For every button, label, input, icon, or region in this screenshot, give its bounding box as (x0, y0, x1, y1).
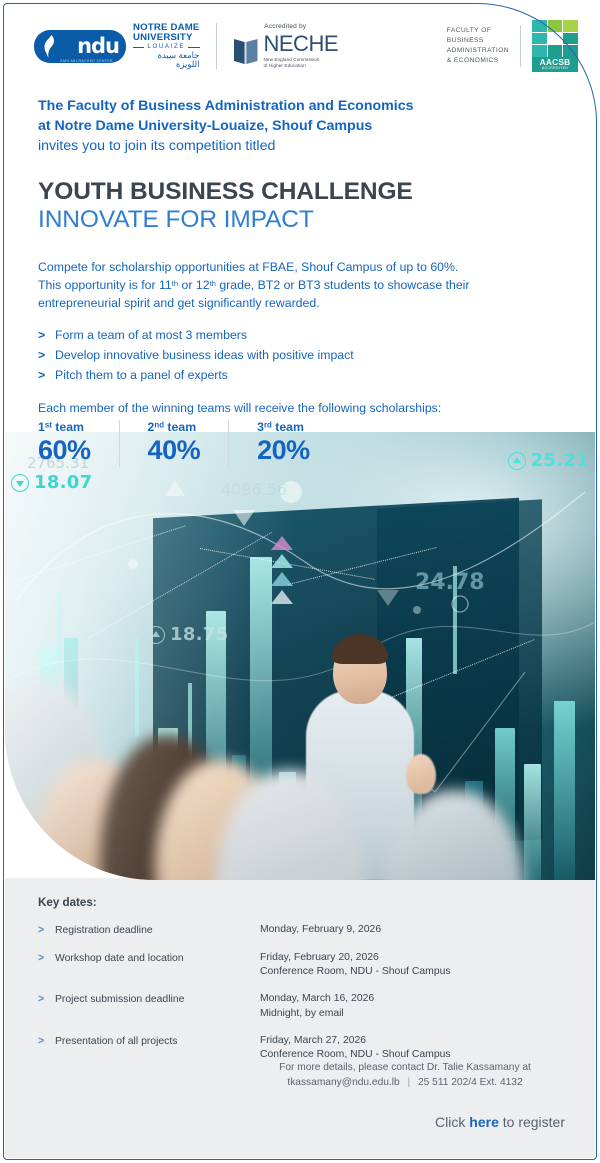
overlay-value-down: 18.07 (11, 472, 92, 493)
ndu-wordmark-line2: UNIVERSITY (133, 33, 200, 43)
faculty-name: FACULTY OF BUSINESS ADMINISTRATION & ECO… (447, 26, 509, 67)
ndu-logo: ndu ZAHI ABI RACHED CENTER NOTRE DAME UN… (34, 23, 200, 68)
scholarship-tier-2: 2nd team 40% (119, 420, 229, 466)
chevron-right-icon: > (38, 346, 55, 366)
key-date-value: Friday, March 27, 2026 Conference Room, … (260, 1034, 451, 1062)
poster: ndu ZAHI ABI RACHED CENTER NOTRE DAME UN… (0, 0, 600, 1163)
faculty-line4: & ECONOMICS (447, 56, 509, 66)
key-date-label: Workshop date and location (55, 951, 260, 966)
key-dates-title: Key dates: (38, 896, 571, 909)
contact-phone: 25 511 202/4 Ext. 4132 (418, 1077, 523, 1088)
list-item: > Develop innovative business ideas with… (38, 346, 570, 366)
key-date-row: > Workshop date and location Friday, Feb… (38, 951, 571, 979)
triangle-up-icon (147, 626, 165, 644)
tier-1-rank: 1 (38, 420, 45, 434)
ndu-logo-mark: ndu ZAHI ABI RACHED CENTER (34, 30, 126, 63)
list-item: > Form a team of at most 3 members (38, 326, 570, 346)
contact-email[interactable]: tkassamany@ndu.edu.lb (287, 1077, 399, 1088)
open-book-icon (233, 37, 259, 65)
chevron-right-icon: > (38, 992, 55, 1007)
lead-paragraph: The Faculty of Business Administration a… (38, 96, 570, 156)
competition-title-block: YOUTH BUSINESS CHALLENGE INNOVATE FOR IM… (38, 178, 570, 233)
chevron-right-icon: > (38, 1034, 55, 1049)
hero-image-composition: 2765.31 4096.56 24.78 18.07 25.21 18.75 (5, 432, 595, 880)
presenter-hair (332, 634, 388, 664)
register-prefix: Click (435, 1114, 469, 1130)
neche-name: NECHE (264, 33, 339, 55)
ndu-flame-icon (43, 35, 56, 58)
tier-1-word: team (52, 420, 84, 434)
key-date-value-line2: Conference Room, NDU - Shouf Campus (260, 965, 451, 979)
lead-line1: The Faculty of Business Administration a… (38, 96, 570, 116)
tier-3-word: team (272, 420, 304, 434)
tier-2-ordinal: nd (154, 421, 164, 430)
register-cta: Click here to register (435, 1114, 565, 1130)
faculty-line3: ADMINISTRATION (447, 46, 509, 56)
faculty-line2: BUSINESS (447, 36, 509, 46)
chevron-right-icon: > (38, 366, 55, 386)
description-paragraph: Compete for scholarship opportunities at… (38, 258, 570, 313)
register-link[interactable]: here (469, 1114, 499, 1130)
chevron-right-icon: > (38, 951, 55, 966)
ndu-wordmark-arabic2: اللويزة (133, 60, 200, 69)
header-logo-row: ndu ZAHI ABI RACHED CENTER NOTRE DAME UN… (0, 0, 600, 92)
key-date-value-line2: Midnight, by email (260, 1007, 374, 1021)
description-line2: This opportunity is for 11th or 12th gra… (38, 276, 570, 294)
key-dates-section: Key dates: > Registration deadline Monda… (38, 896, 571, 1075)
chevron-right-icon: > (38, 923, 55, 938)
contact-line2: tkassamany@ndu.edu.lb | 25 511 202/4 Ext… (240, 1075, 570, 1090)
aacsb-logo: AACSB ACCREDITED (532, 20, 578, 72)
description-line1: Compete for scholarship opportunities at… (38, 258, 570, 276)
description-line3: entrepreneurial spirit and get significa… (38, 294, 570, 312)
contact-info: For more details, please contact Dr. Tal… (240, 1060, 570, 1091)
key-date-row: > Project submission deadline Monday, Ma… (38, 992, 571, 1020)
requirements-list: > Form a team of at most 3 members > Dev… (38, 326, 570, 386)
ghost-value-3: 24.78 (415, 570, 485, 595)
key-date-value: Monday, March 16, 2026 Midnight, by emai… (260, 992, 374, 1020)
overlay-value-text: 18.07 (34, 472, 92, 493)
key-date-value-line1: Monday, March 16, 2026 (260, 993, 374, 1004)
key-date-value-line1: Monday, February 9, 2026 (260, 924, 381, 935)
key-date-row: > Presentation of all projects Friday, M… (38, 1034, 571, 1062)
logo-divider-1 (216, 23, 217, 69)
description-line2-b: or 12 (178, 278, 209, 292)
aacsb-accredited-label: ACCREDITED (532, 67, 578, 72)
chevron-right-icon: > (38, 326, 55, 346)
presenter-hand (406, 754, 436, 794)
competition-title: YOUTH BUSINESS CHALLENGE (38, 178, 570, 205)
key-date-value: Monday, February 9, 2026 (260, 923, 381, 937)
neche-logo: Accredited by NECHE New England Commissi… (233, 23, 339, 68)
info-panel: Key dates: > Registration deadline Monda… (5, 878, 595, 1158)
scholarship-tier-3: 3rd team 20% (228, 420, 338, 466)
aacsb-mark-icon (532, 20, 578, 57)
requirement-text: Form a team of at most 3 members (55, 326, 247, 346)
list-item: > Pitch them to a panel of experts (38, 366, 570, 386)
tier-3-percent: 20% (257, 435, 310, 466)
scholarship-tier-1: 1st team 60% (38, 420, 119, 466)
neche-accredited-by-label: Accredited by (264, 23, 306, 30)
lead-line2: at Notre Dame University-Louaize, Shouf … (38, 116, 570, 136)
tier-1-percent: 60% (38, 435, 91, 466)
ndu-mark-text: ndu (77, 36, 119, 57)
key-date-label: Project submission deadline (55, 992, 260, 1007)
triangle-down-icon (11, 474, 29, 492)
faculty-line1: FACULTY OF (447, 26, 509, 36)
scholarships-intro: Each member of the winning teams will re… (38, 401, 570, 415)
tier-1-ordinal: st (45, 421, 52, 430)
key-date-label: Registration deadline (55, 923, 260, 938)
description-line2-c: grade, BT2 or BT3 students to showcase t… (216, 278, 470, 292)
contact-line1: For more details, please contact Dr. Tal… (240, 1060, 570, 1075)
requirement-text: Develop innovative business ideas with p… (55, 346, 354, 366)
neche-sub2: of Higher Education (264, 63, 339, 69)
overlay-value-text: 18.75 (170, 624, 228, 645)
scholarship-tiers: 1st team 60% 2nd team 40% 3rd team 20% (38, 420, 570, 466)
tier-2-percent: 40% (148, 435, 201, 466)
main-content: The Faculty of Business Administration a… (38, 96, 570, 467)
key-date-value: Friday, February 20, 2026 Conference Roo… (260, 951, 451, 979)
hero-image: 2765.31 4096.56 24.78 18.07 25.21 18.75 (5, 432, 595, 880)
ghost-value-2: 4096.56 (221, 480, 287, 499)
ndu-mark-subtext: ZAHI ABI RACHED CENTER (60, 59, 113, 63)
faculty-aacsb-block: FACULTY OF BUSINESS ADMINISTRATION & ECO… (447, 20, 578, 72)
ndu-logo-wordmark: NOTRE DAME UNIVERSITY LOUAIZE جامعة سيدة… (133, 23, 200, 68)
tier-2-word: team (164, 420, 196, 434)
description-line2-a: This opportunity is for 11 (38, 278, 172, 292)
tier-3-ordinal: rd (264, 421, 272, 430)
key-date-value-line1: Friday, February 20, 2026 (260, 952, 379, 963)
contact-separator: | (403, 1077, 416, 1088)
overlay-value-mid: 18.75 (147, 624, 228, 645)
register-suffix: to register (499, 1114, 565, 1130)
tier-3-rank: 3 (257, 420, 264, 434)
aacsb-caption: AACSB ACCREDITED (532, 57, 578, 72)
key-date-label: Presentation of all projects (55, 1034, 260, 1049)
requirement-text: Pitch them to a panel of experts (55, 366, 228, 386)
key-date-value-line1: Friday, March 27, 2026 (260, 1035, 366, 1046)
key-date-row: > Registration deadline Monday, February… (38, 923, 571, 938)
competition-subtitle: INNOVATE FOR IMPACT (38, 206, 570, 234)
logo-divider-2 (520, 25, 521, 67)
lead-line3: invites you to join its competition titl… (38, 136, 570, 156)
